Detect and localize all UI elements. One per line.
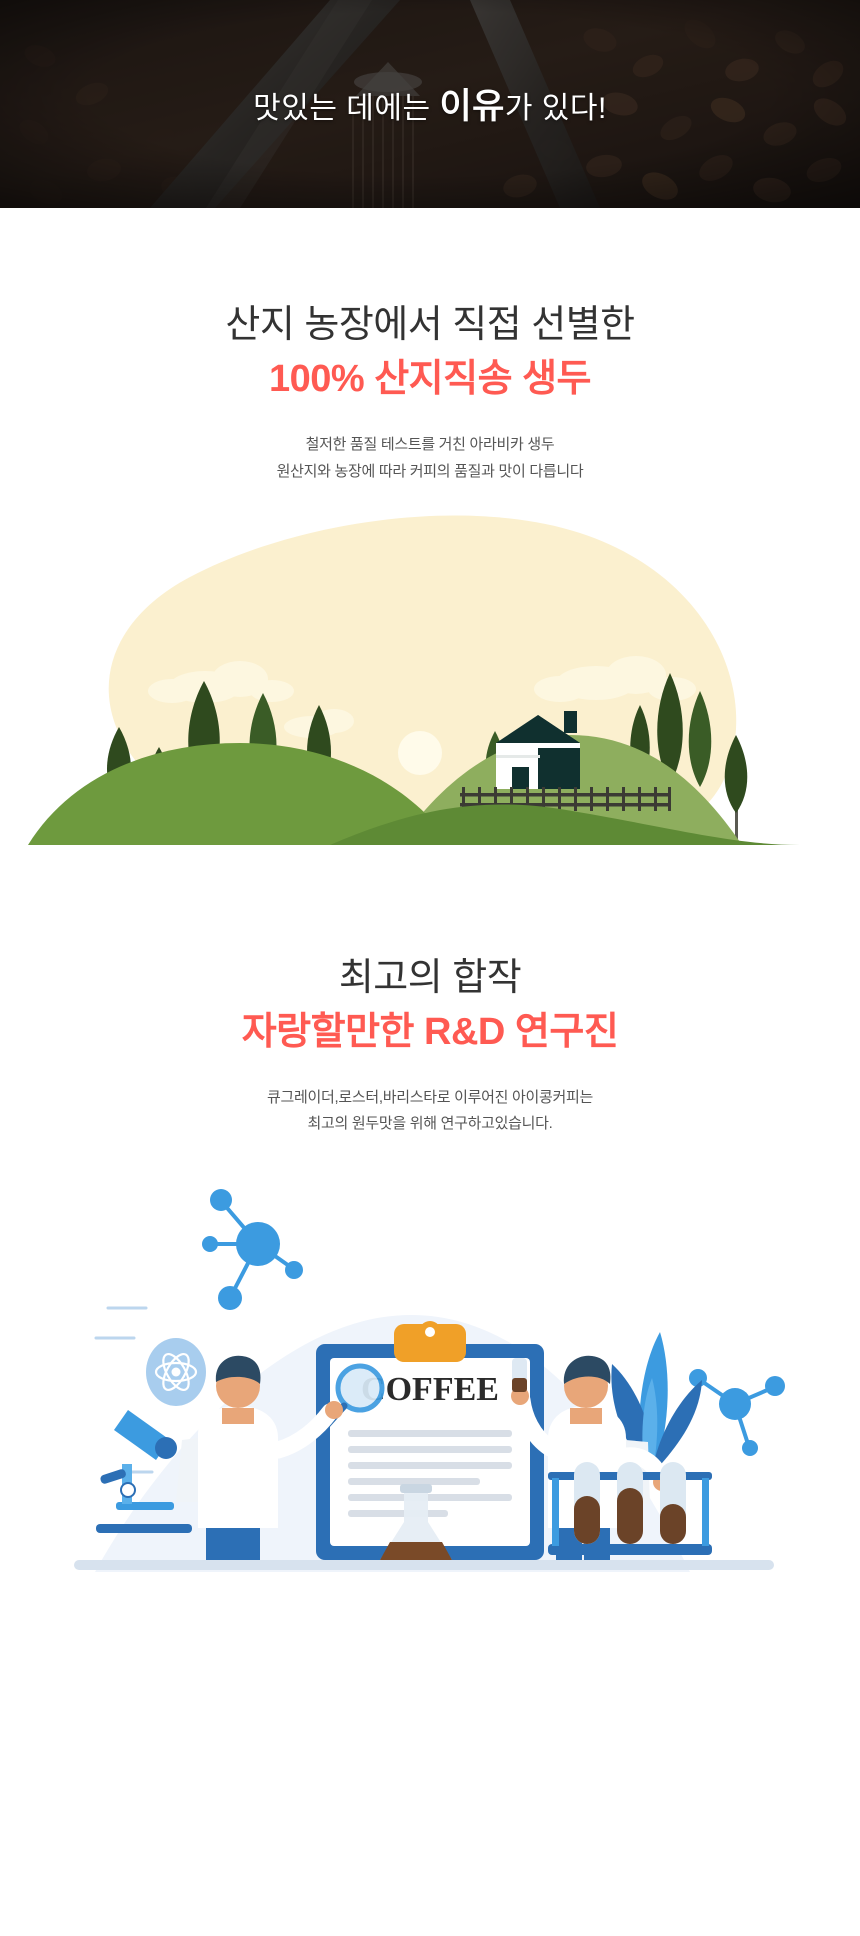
section-origin-description: 철저한 품질 테스트를 거친 아라비카 생두 원산지와 농장에 따라 커피의 품… [0,432,860,485]
section-origin-headline: 산지 농장에서 직접 선별한 [0,300,860,350]
section-origin: 산지 농장에서 직접 선별한 100% 산지직송 생두 철저한 품질 테스트를 … [0,208,860,845]
atom-icon-badge [146,1338,206,1406]
section-origin-desc-line2: 원산지와 농장에 따라 커피의 품질과 맛이 다릅니다 [0,459,860,485]
hero-title-before: 맛있는 데에는 [253,92,439,125]
hero-title-accent: 이유 [439,87,504,126]
molecule-icon-top [202,1189,303,1310]
hero-title: 맛있는 데에는 이유가 있다! [0,78,860,129]
hero-banner: 맛있는 데에는 이유가 있다! [0,0,860,208]
section-rnd-description: 큐그레이더,로스터,바리스타로 이루어진 아이콩커피는 최고의 원두맛을 위해 … [0,1085,860,1138]
coffee-farm-landscape-illustration [0,515,860,845]
section-rnd-headline: 최고의 합작 [0,953,860,1003]
section-origin-headline-accent: 100% 산지직송 생두 [0,354,860,404]
molecule-icon-right [689,1369,785,1456]
section-rnd-headline-accent: 자랑할만한 R&D 연구진 [0,1007,860,1057]
coffee-rnd-laboratory-illustration: COFFEE [0,1172,860,1572]
section-rnd-desc-line2: 최고의 원두맛을 위해 연구하고있습니다. [0,1111,860,1137]
hero-title-after: 가 있다! [505,92,607,125]
section-rnd: 최고의 합작 자랑할만한 R&D 연구진 큐그레이더,로스터,바리스타로 이루어… [0,845,860,1572]
clipboard-with-coffee-label: COFFEE [316,1321,544,1560]
section-origin-desc-line1: 철저한 품질 테스트를 거친 아라비카 생두 [0,432,860,458]
section-rnd-desc-line1: 큐그레이더,로스터,바리스타로 이루어진 아이콩커피는 [0,1085,860,1111]
